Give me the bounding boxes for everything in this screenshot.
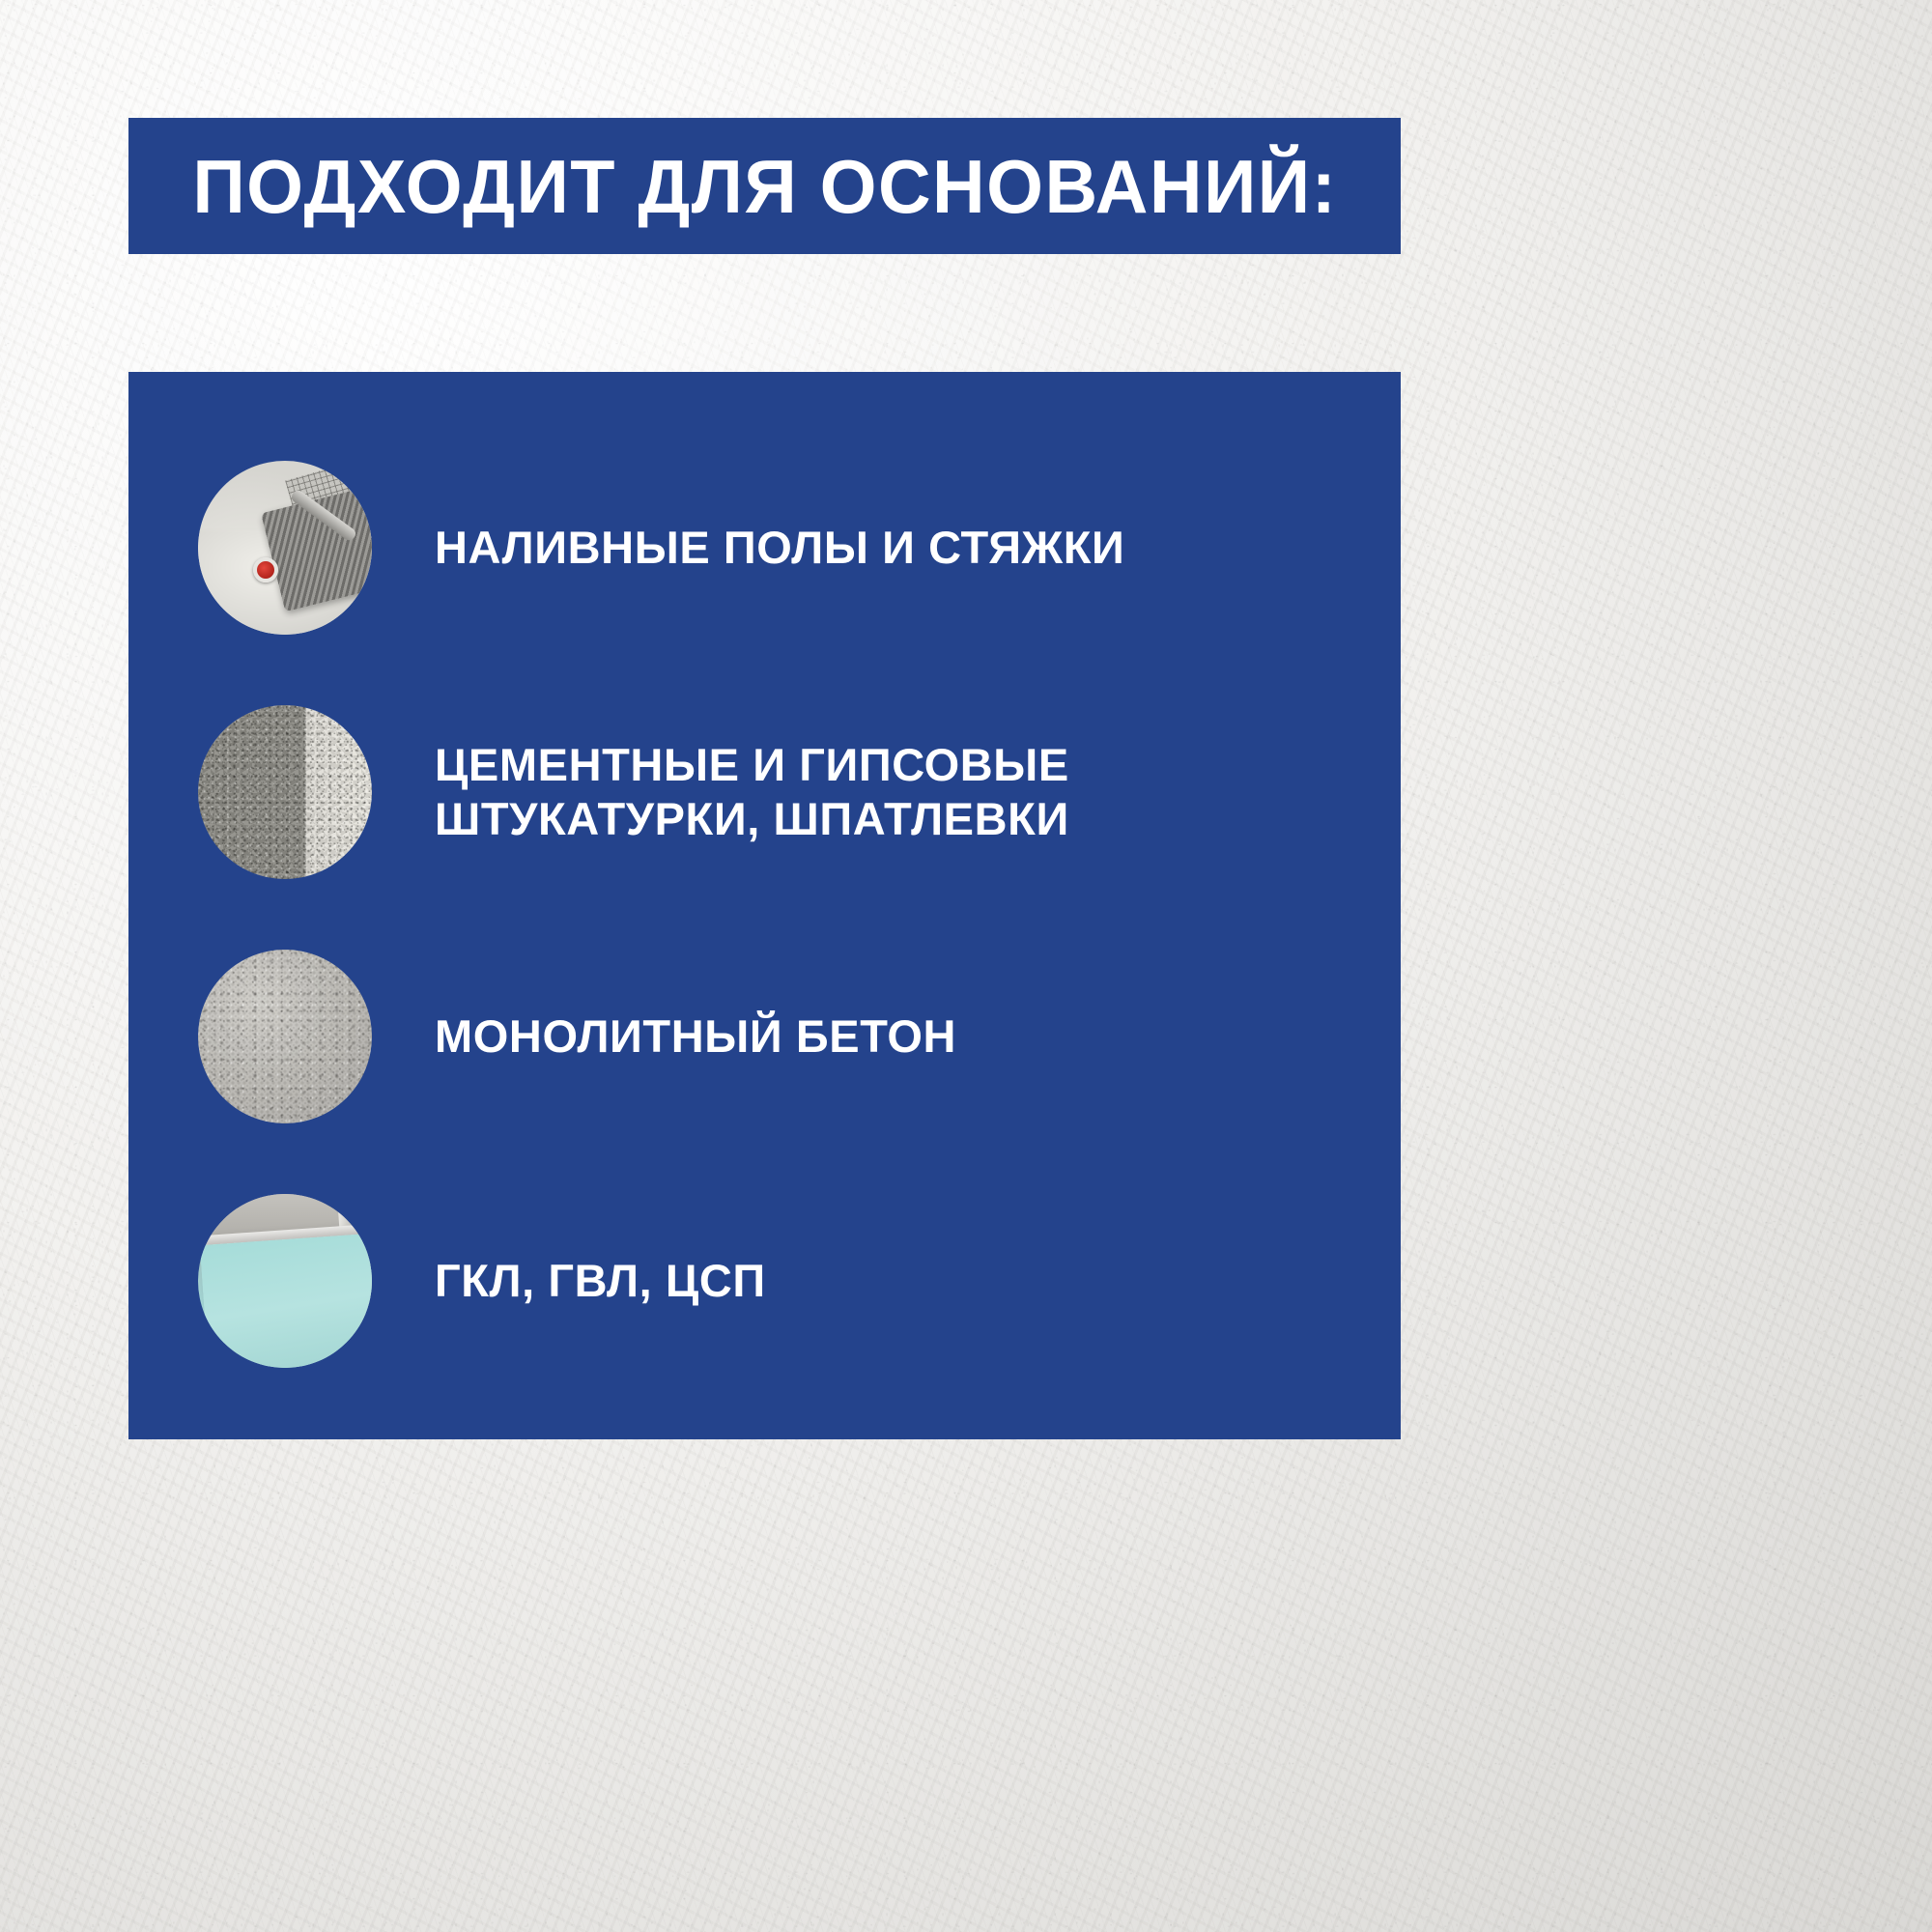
list-item-label: НАЛИВНЫЕ ПОЛЫ И СТЯЖКИ [435,521,1124,574]
roller-cap-shape [253,557,278,582]
plaster-grain-layer-2 [198,705,372,879]
concrete-texture-thumbnail [198,950,372,1123]
substrates-panel: НАЛИВНЫЕ ПОЛЫ И СТЯЖКИ ЦЕМЕНТНЫЕ И ГИПСО… [128,372,1401,1439]
list-item: НАЛИВНЫЕ ПОЛЫ И СТЯЖКИ [128,425,1401,669]
list-item: ГКЛ, ГВЛ, ЦСП [128,1158,1401,1403]
plaster-texture-thumbnail [198,705,372,879]
substrates-list: НАЛИВНЫЕ ПОЛЫ И СТЯЖКИ ЦЕМЕНТНЫЕ И ГИПСО… [128,372,1401,1439]
list-item-label: ЦЕМЕНТНЫЕ И ГИПСОВЫЕ ШТУКАТУРКИ, ШПАТЛЕВ… [435,738,1069,845]
page-title: ПОДХОДИТ ДЛЯ ОСНОВАНИЙ: [192,149,1337,224]
list-item: ЦЕМЕНТНЫЕ И ГИПСОВЫЕ ШТУКАТУРКИ, ШПАТЛЕВ… [128,669,1401,914]
list-item-label: ГКЛ, ГВЛ, ЦСП [435,1254,766,1307]
list-item-label: МОНОЛИТНЫЙ БЕТОН [435,1009,956,1063]
drywall-board-thumbnail [198,1194,372,1368]
header-banner: ПОДХОДИТ ДЛЯ ОСНОВАНИЙ: [128,118,1401,254]
list-item: МОНОЛИТНЫЙ БЕТОН [128,914,1401,1158]
board-sheet-shape [200,1232,372,1367]
concrete-grain-layer-2 [198,950,372,1123]
self-levelling-floor-thumbnail [198,461,372,635]
